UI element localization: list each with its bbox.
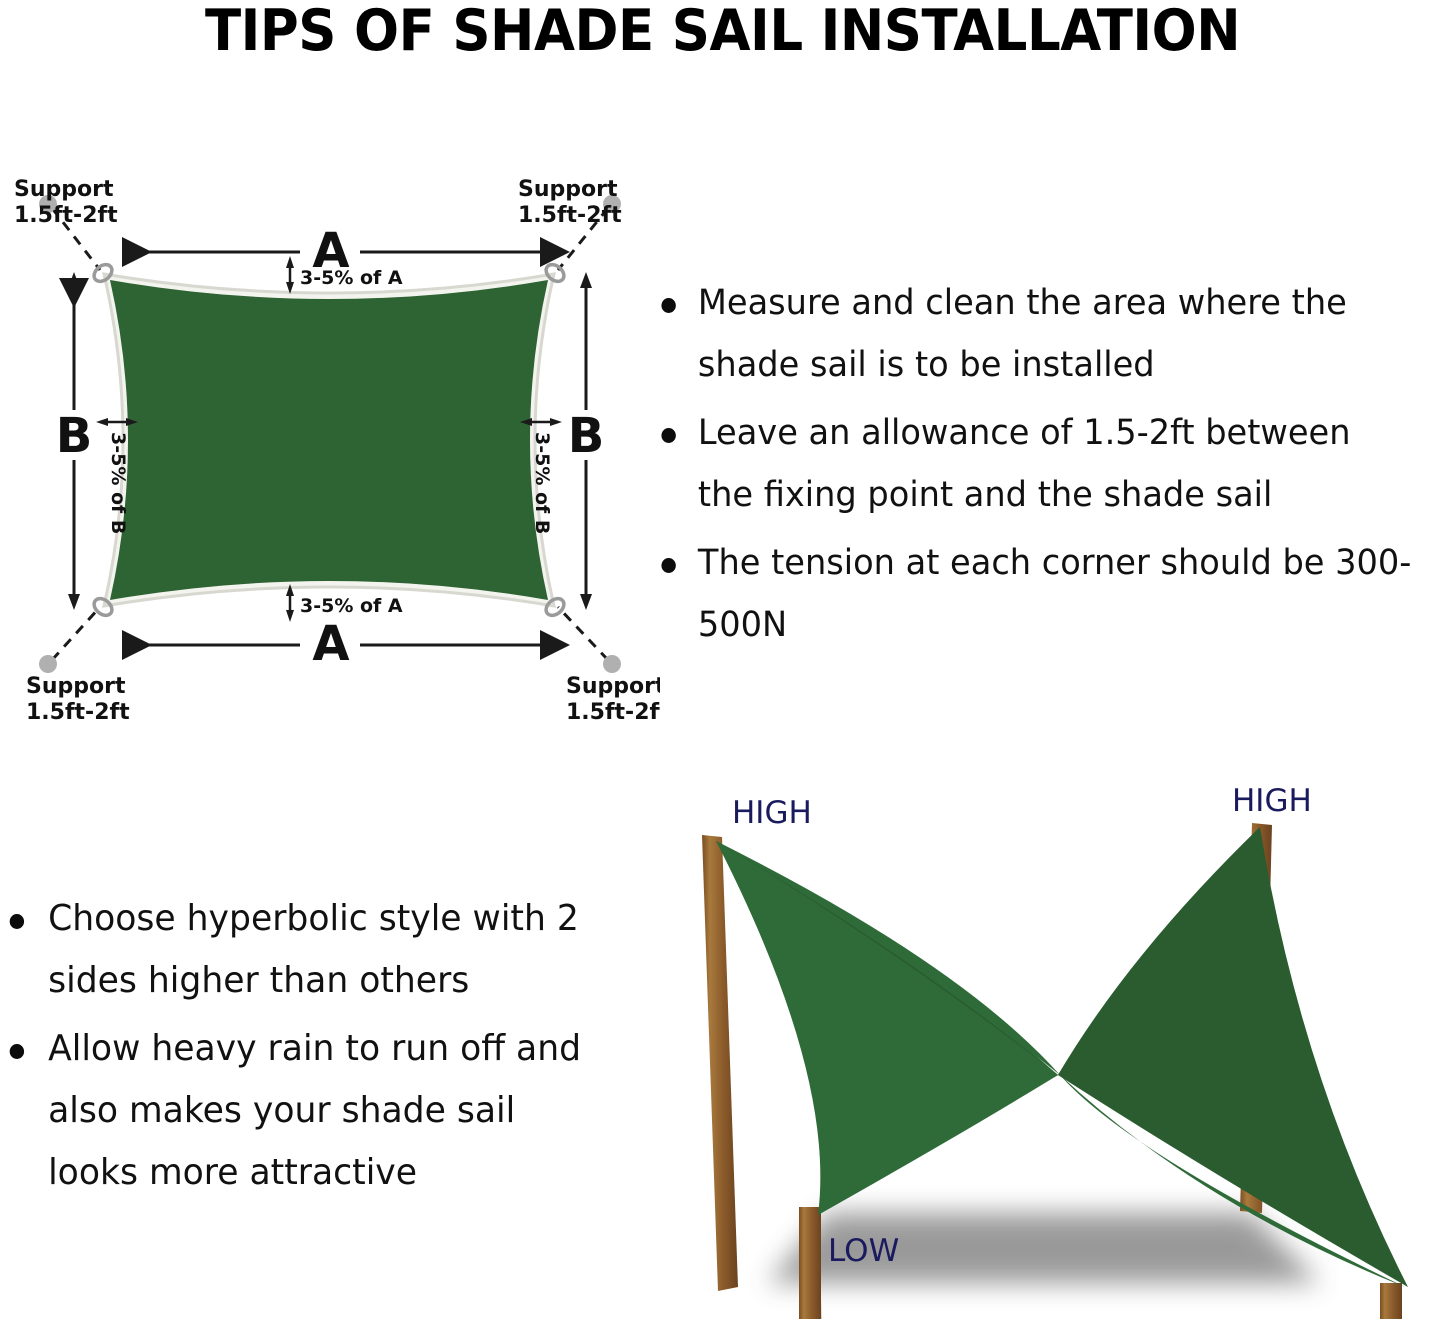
tolerance-right-label: 3-5% of B [531, 432, 553, 534]
support-label-bottom-left-line1: Support [26, 674, 126, 699]
list-item: The tension at each corner should be 300… [648, 532, 1416, 656]
list-item: Allow heavy rain to run off and also mak… [2, 1018, 597, 1204]
page-title-bar: TIPS OF SHADE SAIL INSTALLATION [0, 0, 1445, 62]
label-high-left: HIGH [732, 795, 812, 831]
label-low-left: LOW [828, 1233, 899, 1269]
bullet-dot-icon [661, 428, 675, 443]
page-title: TIPS OF SHADE SAIL INSTALLATION [205, 3, 1240, 60]
rectangle-sail-diagram: A A B B 3-5% of A [0, 160, 660, 730]
sail-body [110, 280, 548, 600]
support-label-top-right-line2: 1.5ft-2ft [518, 203, 622, 228]
tip-text: Choose hyperbolic style with 2 sides hig… [48, 898, 579, 1001]
support-label-top-right-line1: Support [518, 177, 618, 202]
post-low-left-body [799, 1207, 821, 1319]
post-low-right-body [1380, 1283, 1402, 1319]
label-a-bottom: A [312, 616, 349, 672]
hyperbolic-sail-diagram: HIGH HIGH LOW LOW [660, 775, 1445, 1319]
support-label-bottom-right-line2: 1.5ft-2ft [566, 700, 660, 725]
tip-text: The tension at each corner should be 300… [698, 543, 1412, 645]
bullet-dot-icon [661, 298, 675, 313]
bullet-dot-icon [10, 914, 24, 929]
tolerance-bottom-label: 3-5% of A [300, 595, 403, 617]
list-item: Leave an allowance of 1.5-2ft between th… [648, 402, 1416, 526]
tip-text: Measure and clean the area where the sha… [698, 283, 1347, 385]
tips-list-bottom: Choose hyperbolic style with 2 sides hig… [2, 888, 622, 1210]
label-b-right: B [568, 408, 605, 464]
tolerance-top-marks [286, 256, 294, 294]
bullet-dot-icon [661, 558, 675, 573]
list-item: Measure and clean the area where the sha… [648, 272, 1416, 396]
tolerance-bottom-marks [286, 584, 294, 622]
support-label-top-left-line2: 1.5ft-2ft [14, 203, 118, 228]
tip-text: Allow heavy rain to run off and also mak… [48, 1028, 581, 1193]
support-dot-bottom-right [603, 655, 621, 673]
label-b-left: B [56, 408, 93, 464]
bullet-dot-icon [10, 1044, 24, 1059]
tolerance-top-label: 3-5% of A [300, 267, 403, 289]
label-high-right: HIGH [1232, 783, 1312, 819]
tip-text: Leave an allowance of 1.5-2ft between th… [698, 413, 1351, 515]
label-low-right: LOW [1282, 1315, 1353, 1319]
support-label-bottom-right-line1: Support [566, 674, 660, 699]
post-high-left [702, 835, 738, 1291]
tips-list-top: Measure and clean the area where the sha… [648, 272, 1445, 662]
support-dot-bottom-left [39, 655, 57, 673]
support-label-top-left-line1: Support [14, 177, 114, 202]
list-item: Choose hyperbolic style with 2 sides hig… [2, 888, 597, 1012]
tolerance-left-label: 3-5% of B [107, 432, 129, 534]
support-label-bottom-left-line2: 1.5ft-2ft [26, 700, 130, 725]
